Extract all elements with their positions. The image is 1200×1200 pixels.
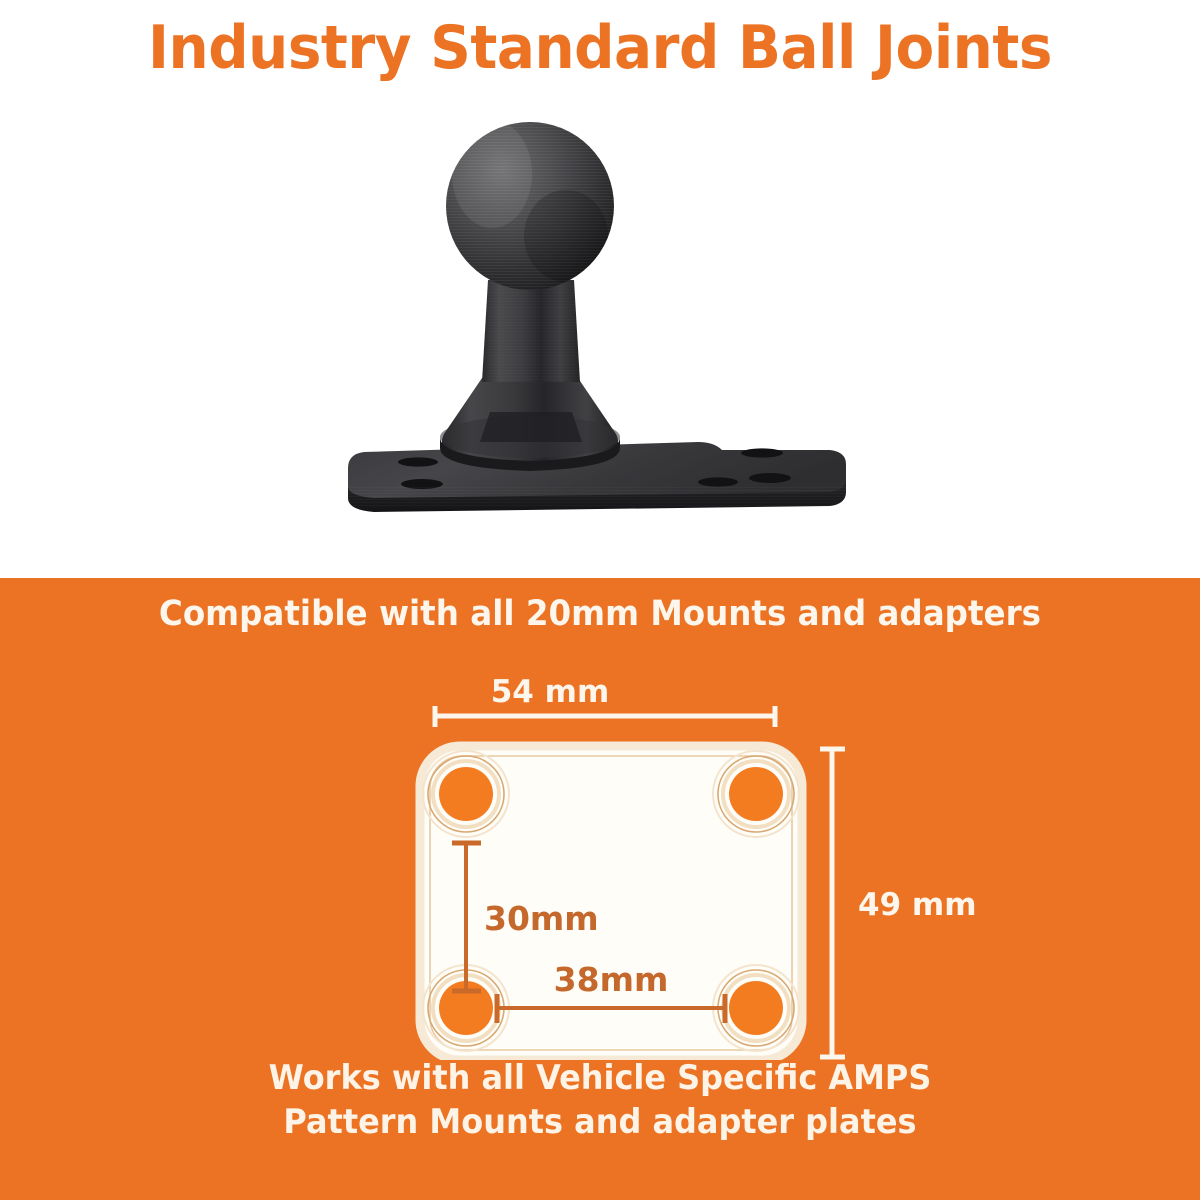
page-title: Industry Standard Ball Joints [36, 14, 1164, 82]
bottom-caption-line-2: Pattern Mounts and adapter plates [36, 1100, 1164, 1144]
ball-mount-illustration [330, 112, 870, 532]
vertical-hole-spacing-label: 30mm [484, 899, 599, 938]
compatibility-heading: Compatible with all 20mm Mounts and adap… [42, 593, 1158, 635]
height-dimension-label: 49 mm [858, 887, 977, 923]
product-photo [330, 112, 870, 532]
infographic-page: Industry Standard Ball Joints [0, 0, 1200, 1200]
horizontal-hole-spacing-label: 38mm [554, 960, 669, 999]
ball-head [440, 118, 620, 296]
width-dimension-label: 54 mm [491, 674, 610, 710]
pedestal-base [440, 378, 620, 471]
height-dimension: 49 mm [820, 748, 977, 1058]
neck-post [482, 280, 580, 382]
compatibility-panel: Compatible with all 20mm Mounts and adap… [0, 578, 1200, 1200]
dimension-diagram: .dimtxt-cream { font-family: "DejaVu San… [400, 670, 980, 1060]
product-hero-panel: Industry Standard Ball Joints [0, 0, 1200, 578]
width-dimension: 54 mm [434, 674, 776, 727]
bottom-caption-line-1: Works with all Vehicle Specific AMPS [36, 1056, 1164, 1100]
bottom-caption: Works with all Vehicle Specific AMPS Pat… [36, 1056, 1164, 1144]
amps-pattern-diagram: .dimtxt-cream { font-family: "DejaVu San… [400, 670, 980, 1060]
